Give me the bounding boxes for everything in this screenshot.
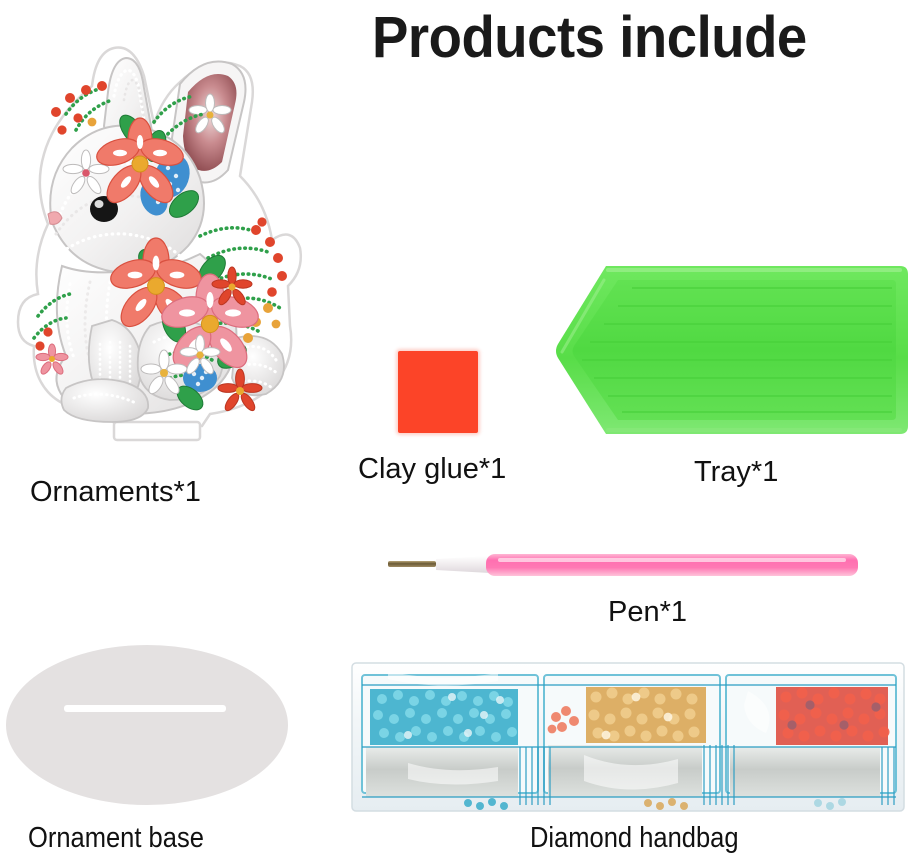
- page-title: Products include: [372, 8, 872, 69]
- rabbit-ornament-icon: [4, 26, 314, 446]
- ornament-base-label: Ornament base: [28, 824, 204, 853]
- diamond-handbag-label: Diamond handbag: [530, 824, 739, 853]
- pen-label: Pen*1: [608, 598, 687, 627]
- tray-icon: [548, 252, 912, 448]
- product-include-infographic: Products include: [0, 0, 912, 867]
- oval-base-icon: [6, 645, 288, 805]
- clay-glue-label: Clay glue*1: [358, 455, 506, 484]
- rhinestone-bags-icon: [348, 655, 908, 819]
- drill-pen-icon: [386, 546, 866, 584]
- clay-glue-icon: [398, 351, 478, 433]
- tray-label: Tray*1: [694, 458, 778, 487]
- base-oval-shape: [6, 645, 288, 805]
- ornaments-label: Ornaments*1: [30, 478, 201, 507]
- base-slot: [64, 705, 226, 712]
